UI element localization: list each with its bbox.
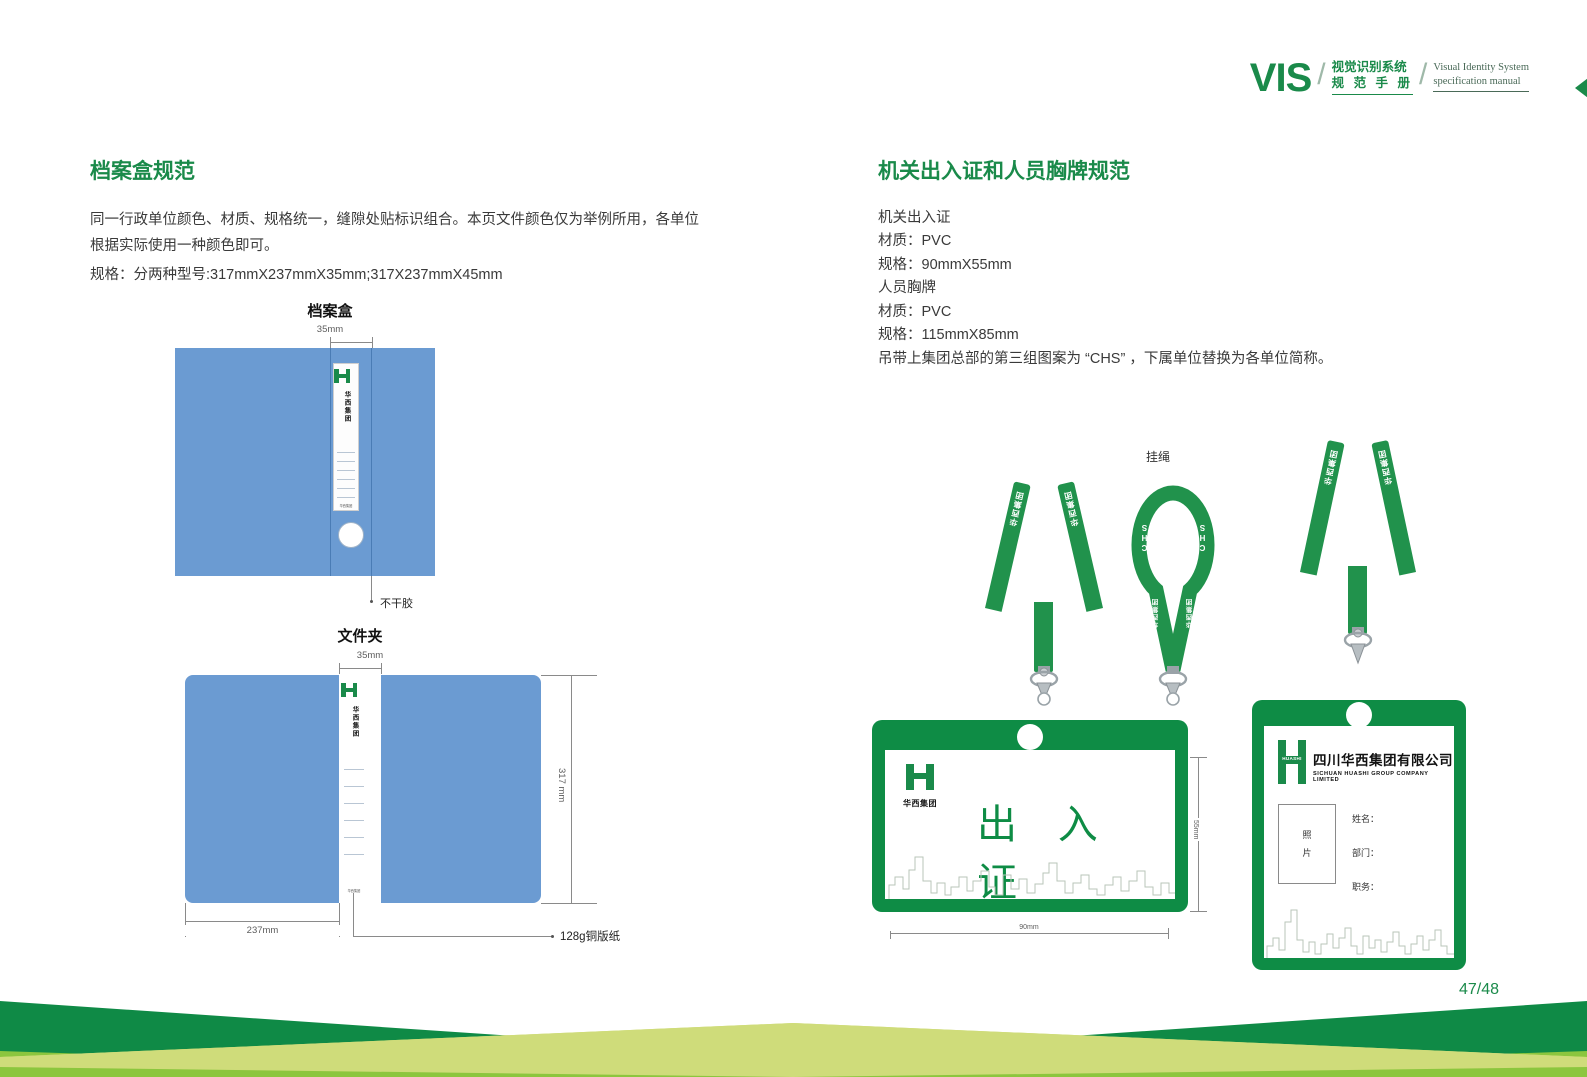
access-card-width-label: 90mm [890,924,1168,931]
lanyard-strap-left-text: 华西集团 [1007,490,1026,528]
left-section-title: 档案盒规范 [90,155,710,185]
right-column: 机关出入证和人员胸牌规范 机关出入证 材质：PVC 规格：90mmX55mm 人… [878,155,1518,371]
lanyard-clip-icon [1027,666,1061,706]
archive-box-title: 档案盒 [240,300,420,321]
lanyard-right-strap-join [1348,566,1367,634]
header-en-line1: Visual Identity System [1433,61,1529,75]
staff-badge-fields: 姓名： 部门： 职务： [1352,812,1379,893]
file-folder-diagram: 文件夹 35mm 华西集团 华西集团 317 mm 237mm [90,625,710,955]
access-card-skyline-graphic [885,837,1175,899]
archive-dim-tick-left [330,337,331,348]
folder-width-bottom-label: 237mm [185,925,340,936]
lanyard-right-strap-right-text: 华西集团 [1376,448,1394,486]
lanyard-strap-left: 华西集团 [985,481,1031,611]
archive-spine-footnote: 华西集团 [334,503,358,508]
archive-dim-tick-right [372,337,373,348]
left-spec-line: 规格：分两种型号:317mmX237mmX35mm;317X237mmX45mm [90,264,710,287]
right-line-1: 材质：PVC [878,230,1518,253]
huaxi-h-logo-icon [906,764,934,790]
header-en-line2: specification manual [1433,75,1529,93]
archive-callout-leader [371,576,372,602]
huashi-logo-mark-text: HUASHI [1278,756,1306,761]
lanyard-v-right: 华西集团 华西集团 [1300,437,1420,667]
lanyard-loop-abbr-left: CHS [1140,522,1149,552]
access-card-logo-text: 华西集团 [903,798,937,809]
folder-height-ext-bottom [541,903,597,904]
folder-callout-leader-v [353,893,354,937]
folder-callout-dot [551,935,554,938]
right-line-3: 人员胸牌 [878,277,1518,300]
archive-spine-brand-text: 华西集团 [341,391,351,423]
left-column: 档案盒规范 同一行政单位颜色、材质、规格统一，缝隙处贴标识组合。本页文件颜色仅为… [90,155,710,287]
lanyard-v-left: 华西集团 华西集团 [985,478,1105,698]
staff-badge-field-dept: 部门： [1352,846,1379,859]
folder-height-ext-top [541,675,597,676]
lanyard-right-strap-left-text: 华西集团 [1322,448,1340,486]
header-cn-line1: 视觉识别系统 [1332,60,1413,76]
staff-badge-photo-line2: 片 [1302,844,1311,862]
staff-badge-field-name: 姓名： [1352,812,1379,825]
folder-height-label: 317 mm [556,765,567,805]
header-slash-2: / [1419,58,1427,91]
staff-badge-field-title: 职务： [1352,880,1379,893]
header-cn-line2: 规 范 手 册 [1332,76,1413,96]
lanyard-strap-right: 华西集团 [1057,481,1103,611]
lanyard-right-strap-left: 华西集团 [1300,440,1345,576]
folder-right-panel [381,675,541,903]
lanyard-loop-clip-icon [1156,666,1190,706]
page-footer-graphic [0,979,1587,1077]
access-card-width-tick-right [1168,928,1169,939]
staff-badge-skyline-graphic [1264,896,1454,958]
staff-badge-company-cn: 四川华西集团有限公司 [1313,749,1454,769]
lanyard-loop-cn-left: 华西集团 [1152,598,1162,628]
folder-dim-line [339,668,381,669]
folder-left-panel [185,675,345,903]
header-english-subtitle: Visual Identity System specification man… [1433,58,1529,92]
header-arrow-icon [1575,62,1587,114]
archive-callout-label: 不干胶 [380,595,413,611]
lanyard-loop: 挂绳 CHS CHS 华西集团 华西集团 [1118,470,1228,700]
staff-badge-notch [1346,702,1372,728]
right-section-title: 机关出入证和人员胸牌规范 [878,155,1518,185]
right-line-6: 吊带上集团总部的第三组图案为 “CHS” ，下属单位替换为各单位简称。 [878,348,1518,371]
staff-badge-company-en: SICHUAN HUASHI GROUP COMPANY LIMITED [1313,771,1454,783]
folder-dim-tick-left [339,663,340,674]
lanyard-strap-right-text: 华西集团 [1062,490,1081,528]
archive-spine-fold-right [371,348,372,576]
folder-spine-label: 华西集团 华西集团 [341,677,367,901]
staff-badge-face: HUASHI 四川华西集团有限公司 SICHUAN HUASHI GROUP C… [1264,726,1454,958]
vis-wordmark: VIS [1250,58,1311,98]
archive-callout-dot [370,600,373,603]
right-line-4: 材质：PVC [878,301,1518,324]
access-card-height-tick-bottom [1190,911,1207,912]
huaxi-h-logo-icon [334,369,350,383]
access-card-notch [1017,724,1043,750]
access-card-width-dim-line [890,933,1168,934]
archive-box-diagram: 档案盒 35mm 华西集团 华西集团 不干胶 [90,300,710,620]
archive-spine-label: 华西集团 华西集团 [333,363,359,511]
folder-callout-label: 128g铜版纸 [560,928,620,944]
archive-spine-fold-left [330,348,331,576]
lanyard-label: 挂绳 [1146,448,1170,465]
lanyard-right-clip-icon [1341,627,1375,671]
folder-width-label: 35mm [280,650,460,661]
folder-spine-footnote: 华西集团 [341,888,367,893]
huaxi-h-logo-icon [341,683,357,697]
archive-box-width-label: 35mm [240,324,420,335]
access-card-face: 华西集团 出 入 证 [885,750,1175,899]
folder-callout-leader-h [353,936,553,937]
lanyard-strap-join [1034,602,1053,672]
huashi-h-logo-icon: HUASHI [1278,740,1306,784]
archive-box-finger-hole [338,522,364,548]
vis-header: VIS / 视觉识别系统 规 范 手 册 / Visual Identity S… [1250,58,1529,98]
folder-height-dim-line [571,675,572,903]
archive-dim-line [330,342,372,343]
lanyard-loop-cn-right: 华西集团 [1186,598,1196,628]
right-line-2: 规格：90mmX55mm [878,254,1518,277]
archive-box-left-panel [175,348,435,576]
access-card-height-tick-top [1190,757,1207,758]
right-line-0: 机关出入证 [878,207,1518,230]
staff-badge-company-lockup: HUASHI 四川华西集团有限公司 SICHUAN HUASHI GROUP C… [1278,740,1454,784]
lanyard-loop-abbr-right: CHS [1198,522,1207,552]
staff-badge-card: HUASHI 四川华西集团有限公司 SICHUAN HUASHI GROUP C… [1252,700,1466,970]
lanyard-loop-shape [1118,470,1228,675]
folder-width-dim-line [185,921,340,922]
folder-dim-tick-right [381,663,382,674]
header-slash-1: / [1317,58,1325,91]
access-card: 华西集团 出 入 证 [872,720,1188,912]
right-line-5: 规格：115mmX85mm [878,324,1518,347]
header-chinese-subtitle: 视觉识别系统 规 范 手 册 [1332,58,1413,95]
access-card-height-label: 55mm [1192,818,1199,841]
folder-spine-brand-text: 华西集团 [349,706,359,738]
staff-badge-photo-placeholder: 照 片 [1278,804,1336,884]
file-folder-title: 文件夹 [270,625,450,646]
staff-badge-photo-line1: 照 [1302,826,1311,844]
access-card-logo: 华西集团 [903,764,937,809]
left-paragraph: 同一行政单位颜色、材质、规格统一，缝隙处贴标识组合。本页文件颜色仅为举例所用，各… [90,207,710,260]
lanyard-right-strap-right: 华西集团 [1371,440,1416,576]
